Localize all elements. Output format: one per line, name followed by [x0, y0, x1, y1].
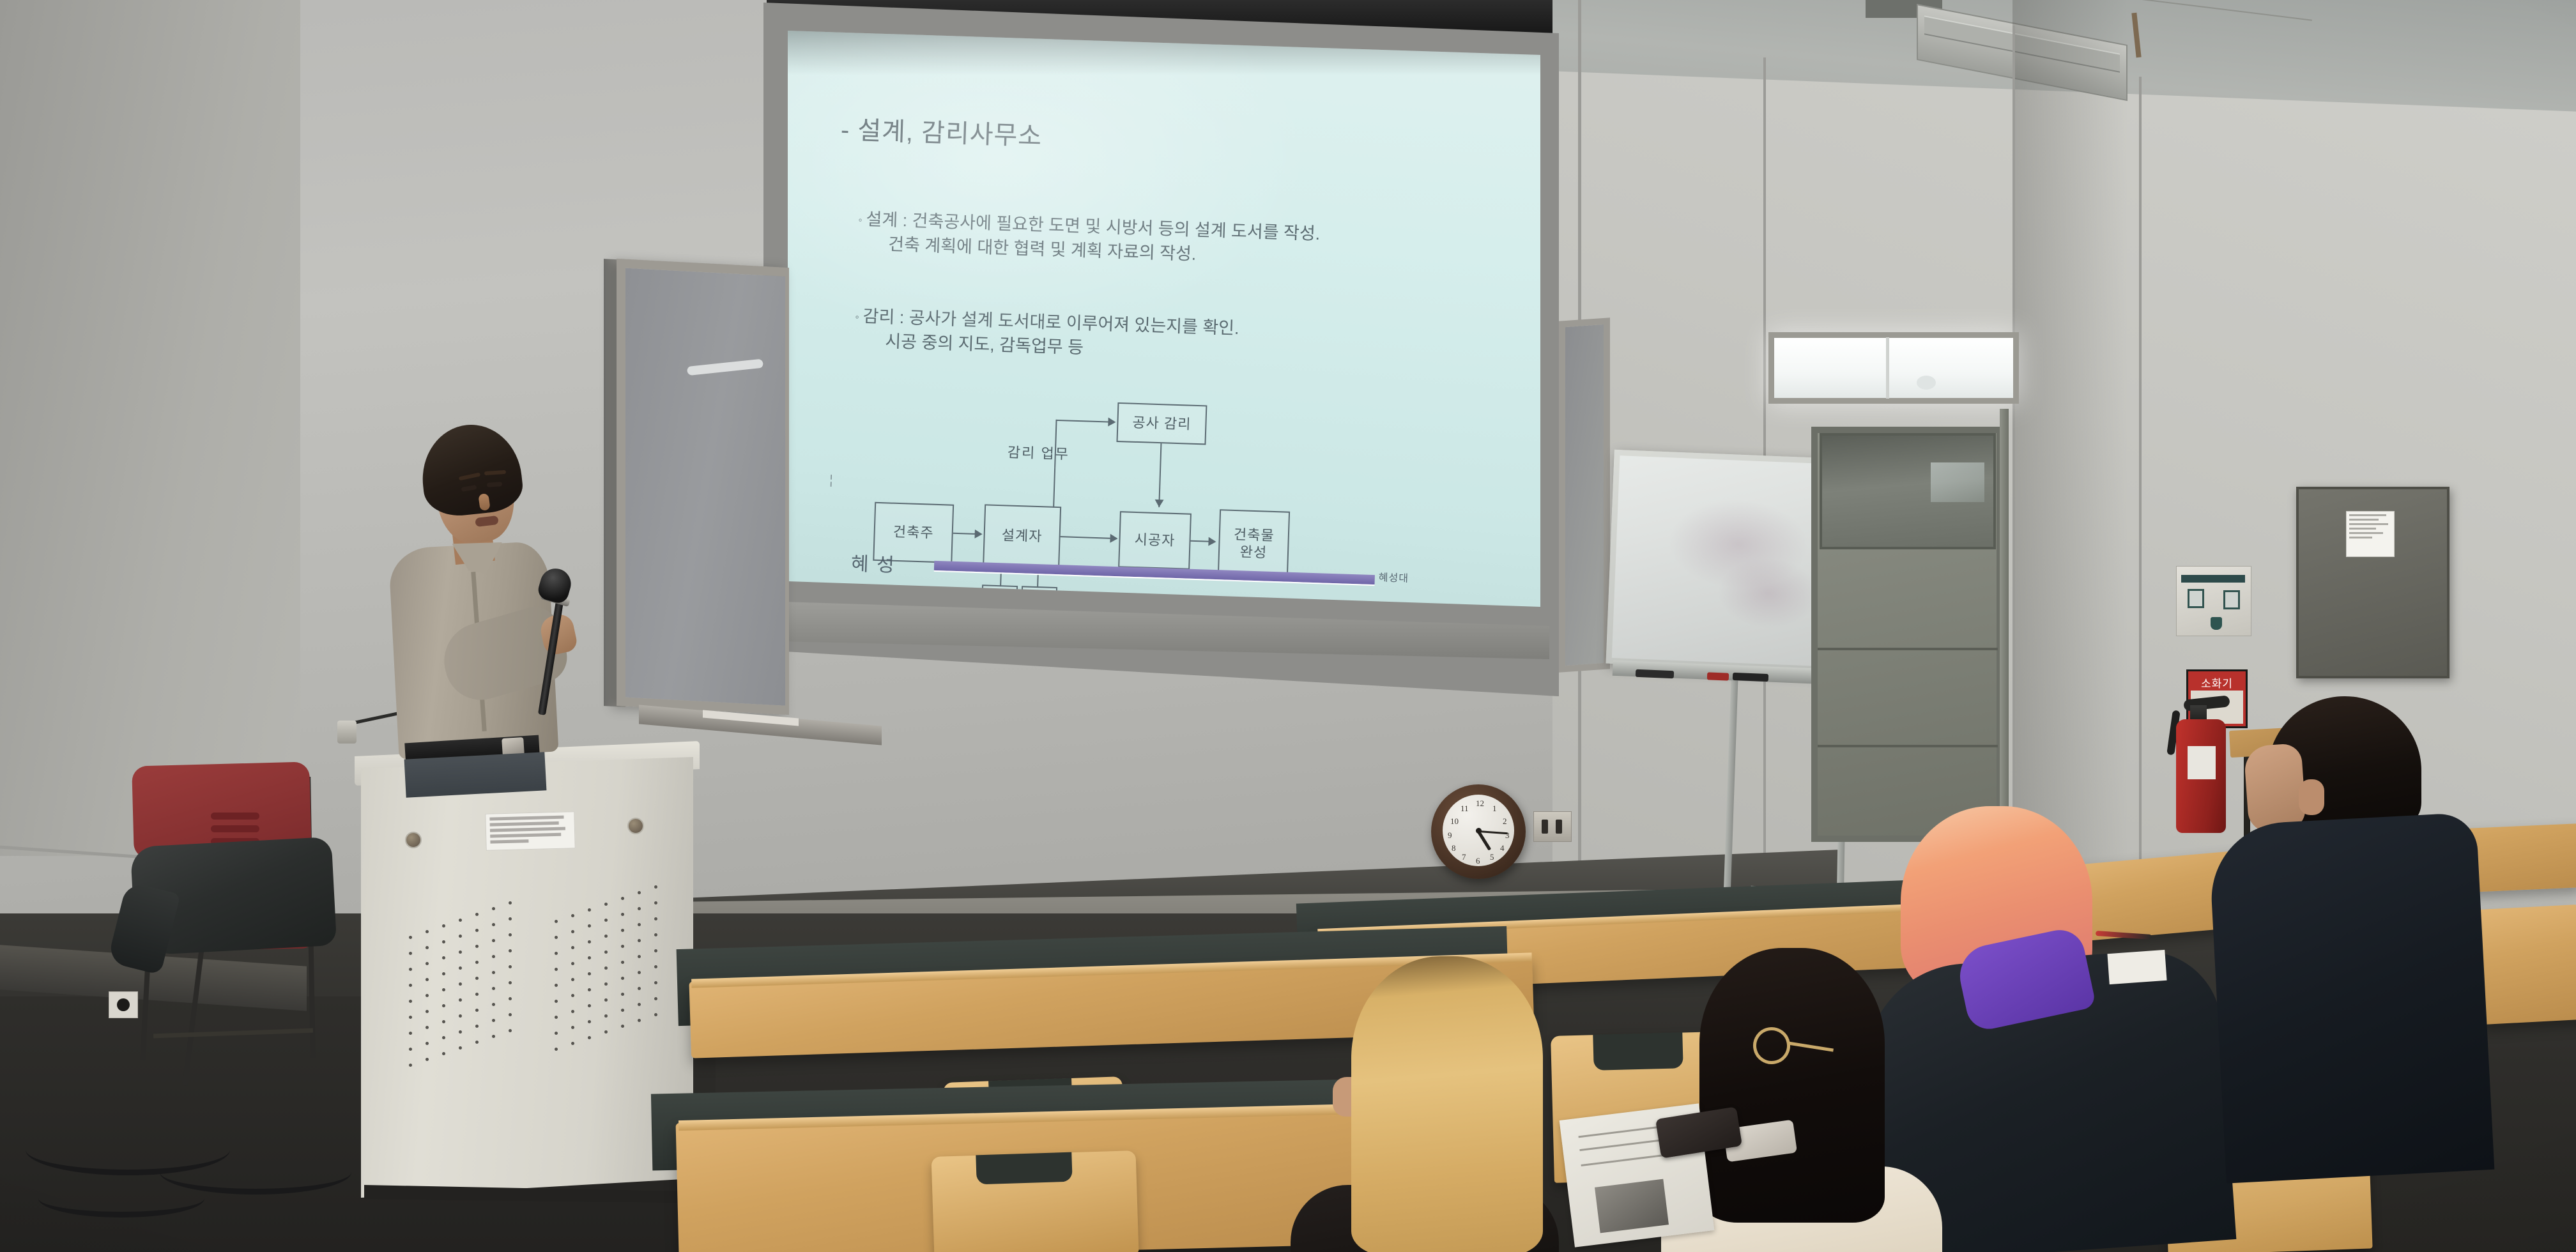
- slide-bullet-2: ◦감리 : 공사가 설계 도서대로 이루어져 있는지를 확인. 시공 중의 지도…: [854, 304, 1239, 365]
- flow-line: [1053, 468, 1055, 508]
- clock-hour-1: 1: [1492, 804, 1497, 814]
- note-sheet[interactable]: [2107, 950, 2166, 984]
- wall-seam: [2139, 77, 2142, 882]
- flow-line: [953, 533, 976, 535]
- wall-board-right[interactable]: [1559, 317, 1610, 673]
- slide-tick-mark: ¦: [829, 473, 833, 487]
- wall-socket[interactable]: [1533, 811, 1572, 842]
- flow-arrow: [1108, 418, 1115, 427]
- student-dark-hair: [1699, 948, 1885, 1223]
- door-rail: [1818, 648, 1998, 650]
- slide-bullet-1: ◦설계 : 건축공사에 필요한 도면 및 시방서 등의 설계 도서를 작성. 건…: [857, 207, 1321, 271]
- wall-outlet[interactable]: [109, 991, 138, 1018]
- alarm-panel-strip: [2181, 575, 2245, 583]
- door-rail: [1818, 745, 1998, 747]
- whiteboard-marker-red[interactable]: [1707, 672, 1729, 680]
- door-jamb: [2000, 409, 2009, 850]
- clock-hour-5: 5: [1490, 852, 1494, 862]
- flow-line: [1055, 420, 1108, 423]
- clock-center-pin: [1476, 828, 1482, 834]
- door-glass: [1820, 433, 1996, 549]
- instructor-hair: [417, 420, 525, 519]
- flow-node-completion: 건축물완성: [1218, 509, 1290, 577]
- whiteboard-marker-black[interactable]: [1636, 669, 1674, 678]
- whiteboard-marker-blue[interactable]: [1733, 673, 1768, 682]
- student-boy-face: [2243, 743, 2306, 834]
- corner-shadow: [2012, 0, 2127, 894]
- lectern-speaker-grille-left: [409, 936, 524, 1083]
- wall-board-left[interactable]: [617, 259, 789, 715]
- bench-far-right-panel[interactable]: [2476, 905, 2576, 1025]
- clock-hour-7: 7: [1462, 852, 1466, 862]
- lecture-hall-photo: - 설계, 감리사무소 ◦설계 : 건축공사에 필요한 도면 및 시방서 등의 …: [0, 0, 2576, 1252]
- clock-hour-2: 2: [1503, 816, 1507, 827]
- clock-hour-9: 9: [1448, 830, 1452, 841]
- flow-node-builder: 시공자: [1118, 511, 1192, 570]
- lectern-notice-sticker: [485, 811, 575, 851]
- alarm-bell-icon: [2211, 617, 2222, 630]
- slide-logo: 혜 성: [850, 548, 896, 577]
- flow-line: [1158, 443, 1161, 507]
- paper-photo: [1595, 1179, 1669, 1233]
- flow-node-supervision: 공사 감리: [1116, 402, 1207, 445]
- window-object: [1917, 376, 1936, 390]
- lectern-speaker-grille-right: [555, 920, 666, 1064]
- clock-hour-8: 8: [1452, 843, 1456, 853]
- projection-screen[interactable]: - 설계, 감리사무소 ◦설계 : 건축공사에 필요한 도면 및 시방서 등의 …: [788, 31, 1540, 607]
- seat-notch: [1593, 1032, 1683, 1071]
- clock-hour-11: 11: [1460, 804, 1469, 814]
- lectern-lock-right[interactable]: [627, 818, 644, 834]
- window-mullion: [1886, 337, 1889, 399]
- extinguisher-label: [2188, 746, 2216, 779]
- student-boy-ear: [2299, 779, 2324, 815]
- floor-cable: [38, 1179, 204, 1218]
- panel-notice: [2346, 511, 2395, 557]
- clock-hour-12: 12: [1476, 798, 1484, 809]
- wall-seam: [2012, 26, 2015, 869]
- seat-notch: [976, 1152, 1072, 1185]
- left-wall: [0, 0, 300, 856]
- bullet-marker: ◦: [858, 214, 862, 226]
- clock-hour-6: 6: [1476, 856, 1480, 866]
- flow-arrow: [1110, 534, 1117, 543]
- fire-extinguisher-sign-label: 소화기: [2188, 671, 2246, 691]
- flow-arrow: [1154, 500, 1163, 507]
- bullet-marker: ◦: [855, 310, 859, 323]
- flow-line: [1191, 540, 1210, 542]
- clock-hour-10: 10: [1450, 816, 1459, 827]
- clerestory-window: [1768, 332, 2019, 404]
- flow-edge-label: 감리 업무: [1007, 441, 1069, 463]
- student-blonde-hair: [1351, 956, 1543, 1252]
- alarm-indicator[interactable]: [2223, 590, 2240, 609]
- instructor-trousers: [404, 752, 547, 797]
- alarm-call-button[interactable]: [2188, 589, 2204, 608]
- flow-arrow: [1208, 537, 1216, 546]
- lectern-lock-left[interactable]: [405, 832, 422, 848]
- student-boy-jacket: [2208, 812, 2495, 1183]
- flow-arrow: [974, 530, 982, 538]
- presentation-slide: - 설계, 감리사무소 ◦설계 : 건축공사에 필요한 도면 및 시방서 등의 …: [788, 31, 1540, 607]
- flow-line: [1061, 536, 1110, 539]
- clock-hour-4: 4: [1500, 843, 1505, 853]
- slide-title: - 설계, 감리사무소: [840, 109, 1043, 153]
- flow-node-designer: 설계자: [983, 504, 1061, 568]
- slide-page-mark: 혜성대: [1379, 569, 1409, 585]
